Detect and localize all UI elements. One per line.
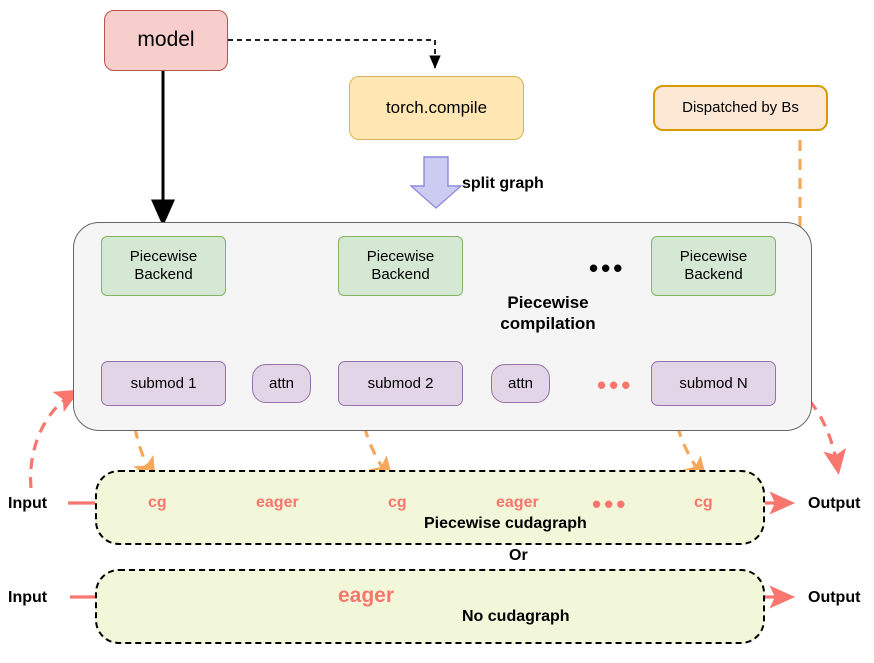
piecewise-cudagraph-label: Piecewise cudagraph: [424, 515, 587, 533]
cudagraph-step-eager-2: eager: [496, 494, 539, 512]
submod-label-2: submod 2: [368, 375, 434, 393]
cudagraph-step-eager-1: eager: [256, 494, 299, 512]
cudagraph-step-cg-1: cg: [148, 494, 167, 512]
split-graph-label: split graph: [462, 175, 544, 193]
submod-box-n[interactable]: submod N: [651, 361, 776, 406]
attn-box-2[interactable]: attn: [491, 364, 550, 403]
attn-label-2: attn: [508, 375, 533, 393]
edge-input-to-submod1-dashed: [31, 392, 76, 488]
eager-step-label: eager: [338, 584, 394, 608]
submod-label-1: submod 1: [131, 375, 197, 393]
piecewise-backend-box-2[interactable]: PiecewiseBackend: [338, 236, 463, 296]
no-cudagraph-lane: [95, 569, 765, 644]
split-graph-arrow-icon: [411, 157, 461, 208]
submod-label-n: submod N: [679, 375, 747, 393]
output-label-bottom: Output: [808, 589, 860, 607]
edge-model-to-compile: [228, 40, 435, 68]
piecewise-compilation-line1: Piecewise: [470, 292, 626, 313]
piecewise-backend-box-n[interactable]: PiecewiseBackend: [651, 236, 776, 296]
torch-compile-box[interactable]: torch.compile: [349, 76, 524, 140]
piecewise-backend-label-n: PiecewiseBackend: [680, 248, 748, 283]
model-box[interactable]: model: [104, 10, 228, 71]
attn-box-1[interactable]: attn: [252, 364, 311, 403]
piecewise-backend-label-1: PiecewiseBackend: [130, 248, 198, 283]
piecewise-compilation-line2: compilation: [470, 313, 626, 334]
attn-label-1: attn: [269, 375, 294, 393]
output-label-top: Output: [808, 495, 860, 513]
model-label: model: [137, 28, 194, 53]
dispatched-by-bs-box[interactable]: Dispatched by Bs: [653, 85, 828, 131]
or-label: Or: [509, 547, 528, 565]
piecewise-backend-label-2: PiecewiseBackend: [367, 248, 435, 283]
piecewise-cudagraph-lane: [95, 470, 765, 545]
submod-ellipsis: •••: [597, 372, 633, 398]
piecewise-compilation-label: Piecewise compilation: [470, 292, 626, 335]
torch-compile-label: torch.compile: [386, 98, 487, 118]
diagram-canvas: Piecewise compilation ••• ••• model torc…: [0, 0, 874, 663]
cudagraph-step-cg-2: cg: [388, 494, 407, 512]
cudagraph-step-cg-3: cg: [694, 494, 713, 512]
backend-ellipsis: •••: [589, 255, 625, 281]
piecewise-backend-box-1[interactable]: PiecewiseBackend: [101, 236, 226, 296]
input-label-bottom: Input: [8, 589, 47, 607]
cudagraph-step-ellipsis: •••: [592, 491, 628, 517]
no-cudagraph-label: No cudagraph: [462, 608, 570, 626]
submod-box-1[interactable]: submod 1: [101, 361, 226, 406]
dispatched-by-bs-label: Dispatched by Bs: [682, 99, 799, 117]
input-label-top: Input: [8, 495, 47, 513]
submod-box-2[interactable]: submod 2: [338, 361, 463, 406]
